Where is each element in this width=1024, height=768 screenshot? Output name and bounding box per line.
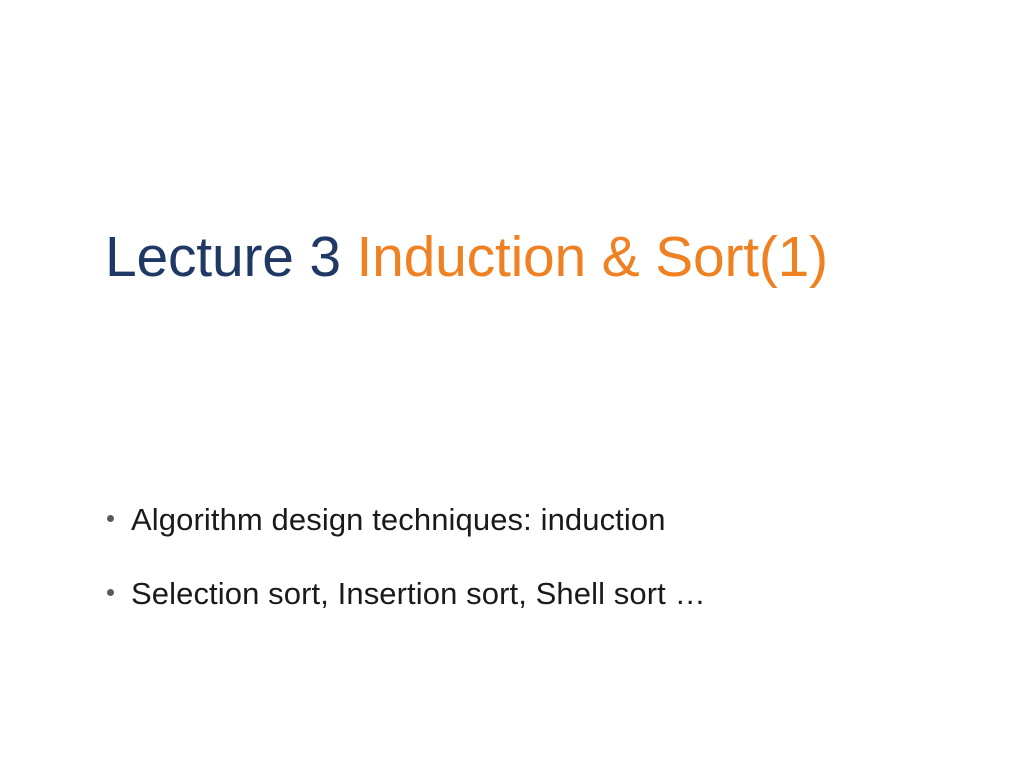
slide-title: Lecture 3 Induction & Sort(1)	[105, 226, 935, 290]
slide-bullet-list: Algorithm design techniques: induction S…	[100, 500, 940, 613]
slide-title-accent: Induction & Sort(1)	[357, 225, 828, 289]
list-item: Selection sort, Insertion sort, Shell so…	[100, 574, 940, 614]
list-item: Algorithm design techniques: induction	[100, 500, 940, 540]
list-item-label: Selection sort, Insertion sort, Shell so…	[131, 576, 706, 611]
bullet-dot-icon	[107, 589, 114, 596]
slide-title-primary: Lecture 3	[105, 225, 357, 289]
bullet-dot-icon	[107, 515, 114, 522]
presentation-slide: Lecture 3 Induction & Sort(1) Algorithm …	[0, 0, 1024, 768]
list-item-label: Algorithm design techniques: induction	[131, 502, 666, 537]
